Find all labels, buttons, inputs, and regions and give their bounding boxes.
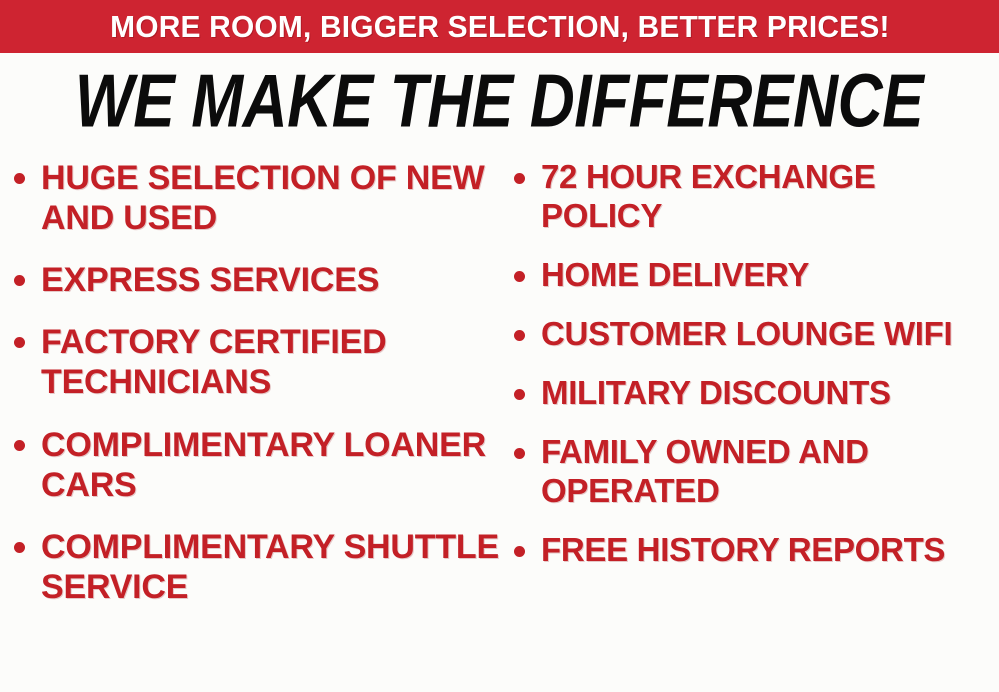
list-item-label: FACTORY CERTIFIED TECHNICIANS (41, 322, 504, 402)
banner-headline-text: MORE ROOM, BIGGER SELECTION, BETTER PRIC… (110, 11, 889, 42)
bullet-dot-icon (514, 389, 525, 400)
bullet-dot-icon (514, 173, 525, 184)
list-item-label: CUSTOMER LOUNGE WIFI (541, 315, 999, 354)
list-item: MILITARY DISCOUNTS (514, 374, 999, 413)
list-item: COMPLIMENTARY SHUTTLE SERVICE (14, 527, 504, 607)
list-item: FREE HISTORY REPORTS (514, 531, 999, 570)
bullet-dot-icon (514, 546, 525, 557)
list-item-label: FREE HISTORY REPORTS (541, 531, 999, 570)
benefits-columns: HUGE SELECTION OF NEW AND USED EXPRESS S… (0, 158, 999, 692)
bullet-dot-icon (514, 330, 525, 341)
list-item: FACTORY CERTIFIED TECHNICIANS (14, 322, 504, 402)
list-item: HUGE SELECTION OF NEW AND USED (14, 158, 504, 238)
list-item-label: HOME DELIVERY (541, 256, 999, 295)
bullet-dot-icon (14, 173, 25, 184)
list-item: COMPLIMENTARY LOANER CARS (14, 425, 504, 505)
benefits-column-right: 72 HOUR EXCHANGE POLICY HOME DELIVERY CU… (514, 158, 999, 590)
list-item: HOME DELIVERY (514, 256, 999, 295)
promotional-poster: MORE ROOM, BIGGER SELECTION, BETTER PRIC… (0, 0, 999, 692)
list-item: CUSTOMER LOUNGE WIFI (514, 315, 999, 354)
bullet-dot-icon (14, 275, 25, 286)
top-banner: MORE ROOM, BIGGER SELECTION, BETTER PRIC… (0, 0, 999, 53)
list-item-label: HUGE SELECTION OF NEW AND USED (41, 158, 504, 238)
benefits-column-left: HUGE SELECTION OF NEW AND USED EXPRESS S… (14, 158, 504, 629)
bullet-dot-icon (14, 337, 25, 348)
list-item-label: COMPLIMENTARY SHUTTLE SERVICE (41, 527, 504, 607)
list-item-label: FAMILY OWNED AND OPERATED (541, 433, 999, 511)
page-title-text: WE MAKE THE DIFFERENCE (75, 64, 923, 139)
list-item: 72 HOUR EXCHANGE POLICY (514, 158, 999, 236)
list-item-label: MILITARY DISCOUNTS (541, 374, 999, 413)
bullet-dot-icon (514, 271, 525, 282)
bullet-dot-icon (14, 542, 25, 553)
page-title: WE MAKE THE DIFFERENCE (0, 68, 999, 135)
bullet-dot-icon (14, 440, 25, 451)
bullet-dot-icon (514, 448, 525, 459)
list-item-label: COMPLIMENTARY LOANER CARS (41, 425, 504, 505)
list-item: EXPRESS SERVICES (14, 260, 504, 300)
list-item: FAMILY OWNED AND OPERATED (514, 433, 999, 511)
list-item-label: 72 HOUR EXCHANGE POLICY (541, 158, 999, 236)
list-item-label: EXPRESS SERVICES (41, 260, 504, 300)
